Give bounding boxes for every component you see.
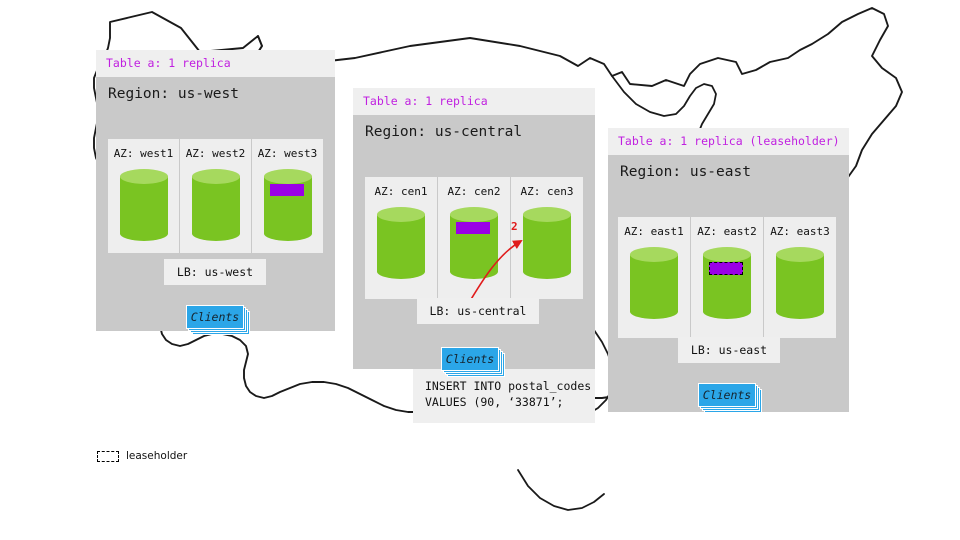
cylinder-body: [192, 176, 240, 234]
az-label-west1: AZ: west1: [108, 139, 179, 160]
clients-label[interactable]: Clients: [441, 347, 499, 371]
node-cylinder-west1[interactable]: [120, 169, 168, 241]
banner-us-west: Table a: 1 replica: [96, 50, 335, 77]
clients-stack-us-east[interactable]: Clients: [698, 383, 760, 409]
node-cylinder-west2[interactable]: [192, 169, 240, 241]
banner-us-east: Table a: 1 replica (leaseholder): [608, 128, 849, 155]
az-cell-east2[interactable]: AZ: east2: [691, 217, 764, 338]
diagram-canvas: Table a: 1 replica Region: us-west AZ: w…: [0, 0, 960, 540]
sql-statement-box: INSERT INTO postal_codes VALUES (90, ‘33…: [413, 369, 595, 423]
az-cell-west2[interactable]: AZ: west2: [180, 139, 252, 253]
clients-label[interactable]: Clients: [186, 305, 244, 329]
region-body-us-east: Region: us-east AZ: east1 AZ: east2: [608, 155, 849, 412]
region-title-us-east: Region: us-east: [608, 155, 849, 180]
node-cylinder-east2[interactable]: [703, 247, 751, 319]
cylinder-top: [630, 247, 678, 262]
cylinder-shape: [264, 169, 312, 241]
az-cell-west1[interactable]: AZ: west1: [108, 139, 180, 253]
region-body-us-west: Region: us-west AZ: west1 AZ: west2: [96, 77, 335, 331]
cylinder-top: [776, 247, 824, 262]
load-balancer-us-central[interactable]: LB: us-central: [417, 298, 539, 324]
cylinder-body: [776, 254, 824, 312]
az-label-east1: AZ: east1: [618, 217, 690, 238]
node-cylinder-east3[interactable]: [776, 247, 824, 319]
region-body-us-central: Region: us-central AZ: cen1 AZ: cen2: [353, 115, 595, 369]
cylinder-body: [630, 254, 678, 312]
region-card-us-central: Table a: 1 replica Region: us-central AZ…: [353, 88, 595, 369]
load-balancer-us-east[interactable]: LB: us-east: [678, 337, 780, 363]
clients-stack-us-central[interactable]: Clients: [441, 347, 503, 373]
replica-block-east2-leaseholder[interactable]: [709, 262, 743, 275]
request-routing-arrow: [353, 115, 595, 369]
legend-label: leaseholder: [126, 450, 187, 462]
replica-block-west3[interactable]: [270, 184, 304, 196]
legend-leaseholder: leaseholder: [97, 450, 187, 462]
region-card-us-east: Table a: 1 replica (leaseholder) Region:…: [608, 128, 849, 412]
az-cell-west3[interactable]: AZ: west3: [252, 139, 323, 253]
node-cylinder-west3[interactable]: [264, 169, 312, 241]
az-cell-east3[interactable]: AZ: east3: [764, 217, 836, 338]
cylinder-top: [264, 169, 312, 184]
clients-label[interactable]: Clients: [698, 383, 756, 407]
region-card-us-west: Table a: 1 replica Region: us-west AZ: w…: [96, 50, 335, 331]
cylinder-shape: [120, 169, 168, 241]
load-balancer-us-west[interactable]: LB: us-west: [164, 259, 266, 285]
az-cell-east1[interactable]: AZ: east1: [618, 217, 691, 338]
cylinder-body: [120, 176, 168, 234]
cylinder-shape: [192, 169, 240, 241]
cylinder-shape: [630, 247, 678, 319]
cylinder-top: [192, 169, 240, 184]
dashed-rect-swatch-icon: [97, 451, 119, 462]
az-label-east3: AZ: east3: [764, 217, 836, 238]
az-label-east2: AZ: east2: [691, 217, 763, 238]
region-title-us-west: Region: us-west: [96, 77, 335, 102]
clients-stack-us-west[interactable]: Clients: [186, 305, 248, 331]
az-strip-us-east: AZ: east1 AZ: east2: [618, 217, 836, 338]
banner-us-central: Table a: 1 replica: [353, 88, 595, 115]
cylinder-shape: [776, 247, 824, 319]
cylinder-top: [120, 169, 168, 184]
cylinder-top: [703, 247, 751, 262]
node-cylinder-east1[interactable]: [630, 247, 678, 319]
az-label-west2: AZ: west2: [180, 139, 251, 160]
az-label-west3: AZ: west3: [252, 139, 323, 160]
cylinder-shape: [703, 247, 751, 319]
az-strip-us-west: AZ: west1 AZ: west2: [108, 139, 323, 253]
arrow-step-label-2: 2: [511, 220, 518, 233]
